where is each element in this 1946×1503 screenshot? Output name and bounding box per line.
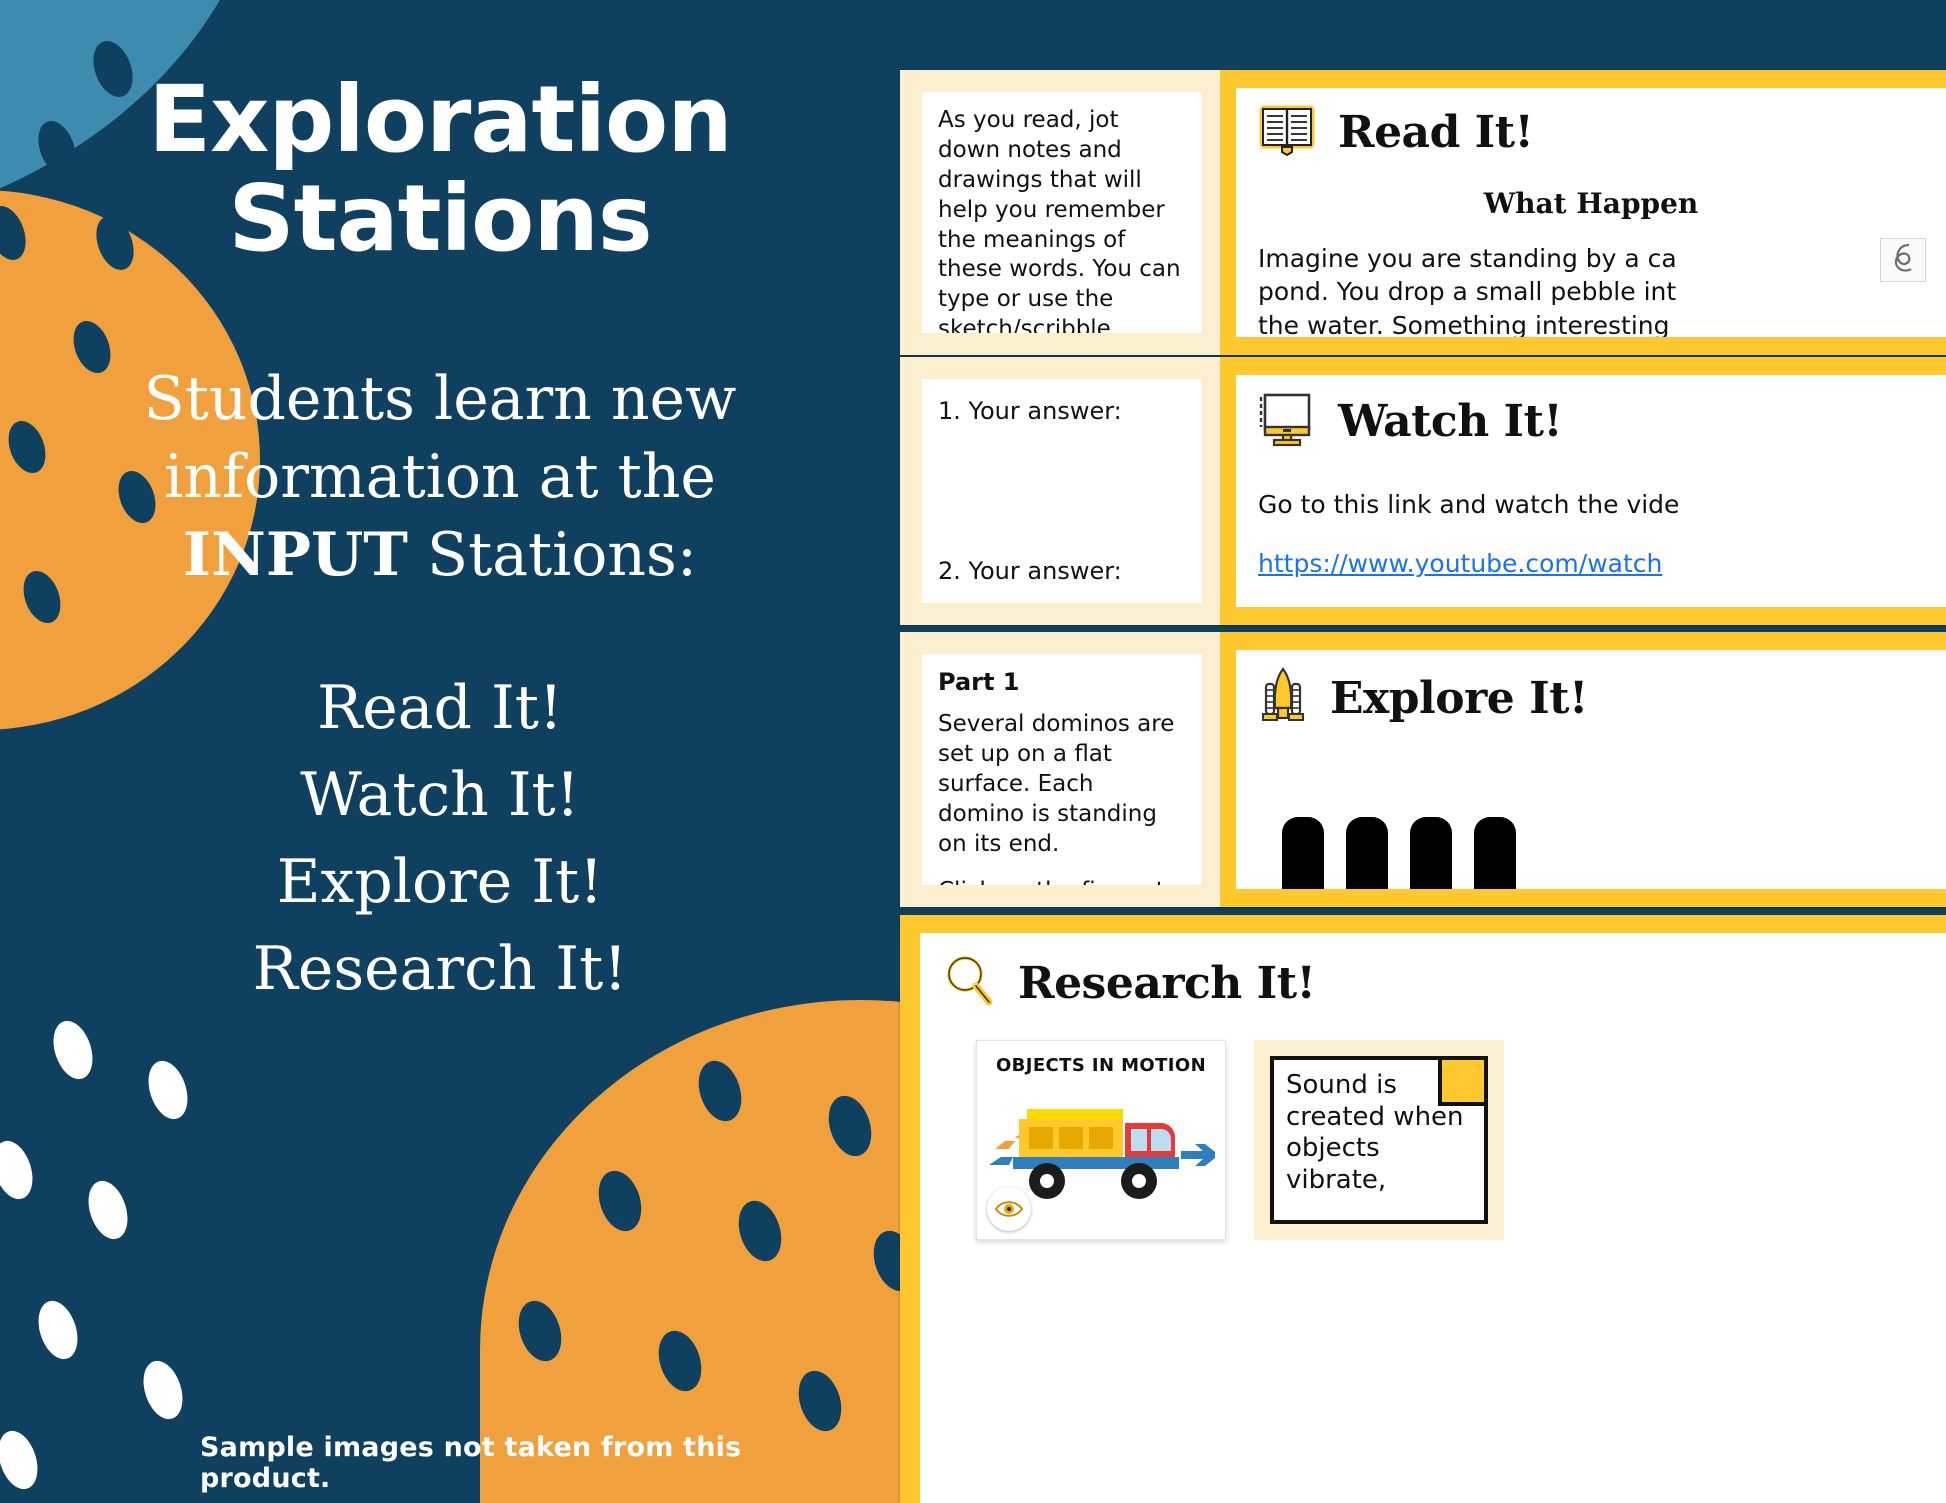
domino-piece[interactable] [1410, 817, 1452, 889]
research-it-heading: Research It! [1018, 958, 1315, 1009]
lede-text-before: Students learn new information at the [144, 364, 737, 512]
read-it-heading: Read It! [1338, 107, 1533, 158]
open-book-icon [1258, 104, 1316, 161]
explore-it-heading: Explore It! [1330, 673, 1588, 724]
sound-note-card: Sound is created when objects vibrate, [1270, 1056, 1488, 1224]
poster-canvas: Exploration Stations Students learn new … [0, 0, 1946, 1503]
read-it-notes-pane: As you read, jot down notes and drawings… [900, 70, 1220, 355]
read-it-body-line: Imagine you are standing by a ca [1258, 242, 1924, 275]
research-it-content-pane: Research It! OBJECTS IN MOTION [900, 915, 1946, 1503]
explore-it-prompt-sheet: Part 1 Several dominos are set up on a f… [922, 654, 1202, 885]
resource-tile-objects-in-motion[interactable]: OBJECTS IN MOTION [976, 1040, 1226, 1240]
station-name-read-it: Read It! [90, 665, 790, 752]
station-name-watch-it: Watch It! [90, 752, 790, 839]
page-fold-icon [1438, 1056, 1488, 1106]
explore-it-sheet: Explore It! [1236, 650, 1946, 889]
station-name-list: Read It! Watch It! Explore It! Research … [90, 665, 790, 1013]
domino-piece[interactable] [1474, 817, 1516, 889]
station-name-research-it: Research It! [90, 926, 790, 1013]
explore-it-paragraph-1: Several dominos are set up on a flat sur… [938, 710, 1186, 859]
read-it-body: Imagine you are standing by a ca pond. Y… [1258, 242, 1924, 337]
read-it-sheet: Read It! What Happen Imagine you are sta… [1236, 88, 1946, 337]
research-it-header: Research It! [942, 953, 1924, 1014]
read-it-body-line: the water. Something interesting [1258, 309, 1924, 338]
answer-prompt-1: 1. Your answer: [938, 397, 1186, 425]
explore-it-prompt-pane: Part 1 Several dominos are set up on a f… [900, 632, 1220, 907]
station-name-explore-it: Explore It! [90, 839, 790, 926]
disclaimer-text: Sample images not taken from this produc… [200, 1432, 880, 1494]
domino-row[interactable] [1258, 817, 1924, 889]
magnifier-icon [942, 953, 996, 1014]
read-it-notes-sheet: As you read, jot down notes and drawings… [922, 92, 1202, 333]
sample-card-research-it[interactable]: Research It! OBJECTS IN MOTION [900, 915, 1946, 1503]
read-it-subheading: What Happen [1258, 187, 1924, 220]
explore-it-header: Explore It! [1258, 666, 1924, 731]
watch-it-video-link[interactable]: https://www.youtube.com/watch [1258, 549, 1924, 578]
domino-piece[interactable] [1346, 817, 1388, 889]
explore-it-content-pane: Explore It! [1220, 632, 1946, 907]
lede-emphasis: INPUT [183, 520, 408, 590]
sample-card-watch-it[interactable]: 1. Your answer: 2. Your answer: [900, 357, 1946, 625]
answer-prompt-2: 2. Your answer: [938, 557, 1186, 585]
page-title-line-2: Stations [0, 169, 880, 268]
watch-it-heading: Watch It! [1338, 396, 1562, 447]
research-resource-grid: OBJECTS IN MOTION [942, 1040, 1924, 1240]
lede-paragraph: Students learn new information at the IN… [90, 360, 790, 594]
resource-tile-sound-note[interactable]: Sound is created when objects vibrate, [1254, 1040, 1504, 1240]
watch-it-header: Watch It! [1258, 391, 1924, 452]
watch-it-answers-pane: 1. Your answer: 2. Your answer: [900, 357, 1220, 625]
watch-it-sheet: Watch It! Go to this link and watch the … [1236, 375, 1946, 607]
sample-card-read-it[interactable]: As you read, jot down notes and drawings… [900, 70, 1946, 355]
explore-it-paragraph-2: Click on the finger to observe what happ… [938, 877, 1186, 885]
watch-it-content-pane: Watch It! Go to this link and watch the … [1220, 357, 1946, 625]
rocket-icon [1258, 666, 1308, 731]
read-it-header: Read It! [1258, 104, 1924, 161]
explore-it-part-label: Part 1 [938, 668, 1186, 696]
page-title-line-1: Exploration [0, 70, 880, 169]
page-title: Exploration Stations [0, 70, 880, 269]
watch-it-instruction: Go to this link and watch the vide [1258, 490, 1924, 519]
monitor-icon [1258, 391, 1316, 452]
research-it-sheet: Research It! OBJECTS IN MOTION [920, 933, 1946, 1503]
sample-card-explore-it[interactable]: Part 1 Several dominos are set up on a f… [900, 632, 1946, 907]
read-it-body-line: pond. You drop a small pebble int [1258, 275, 1924, 308]
sample-screens-column: As you read, jot down notes and drawings… [900, 0, 1946, 1503]
eye-icon[interactable] [987, 1187, 1031, 1231]
read-it-content-pane: Read It! What Happen Imagine you are sta… [1220, 70, 1946, 355]
watch-it-answers-sheet: 1. Your answer: 2. Your answer: [922, 379, 1202, 603]
left-text-column: Exploration Stations Students learn new … [0, 0, 880, 1503]
read-it-notes-body: As you read, jot down notes and drawings… [938, 106, 1186, 333]
lede-text-after: Stations: [408, 520, 697, 590]
resource-tile-title: OBJECTS IN MOTION [987, 1055, 1215, 1076]
domino-piece[interactable] [1282, 817, 1324, 889]
